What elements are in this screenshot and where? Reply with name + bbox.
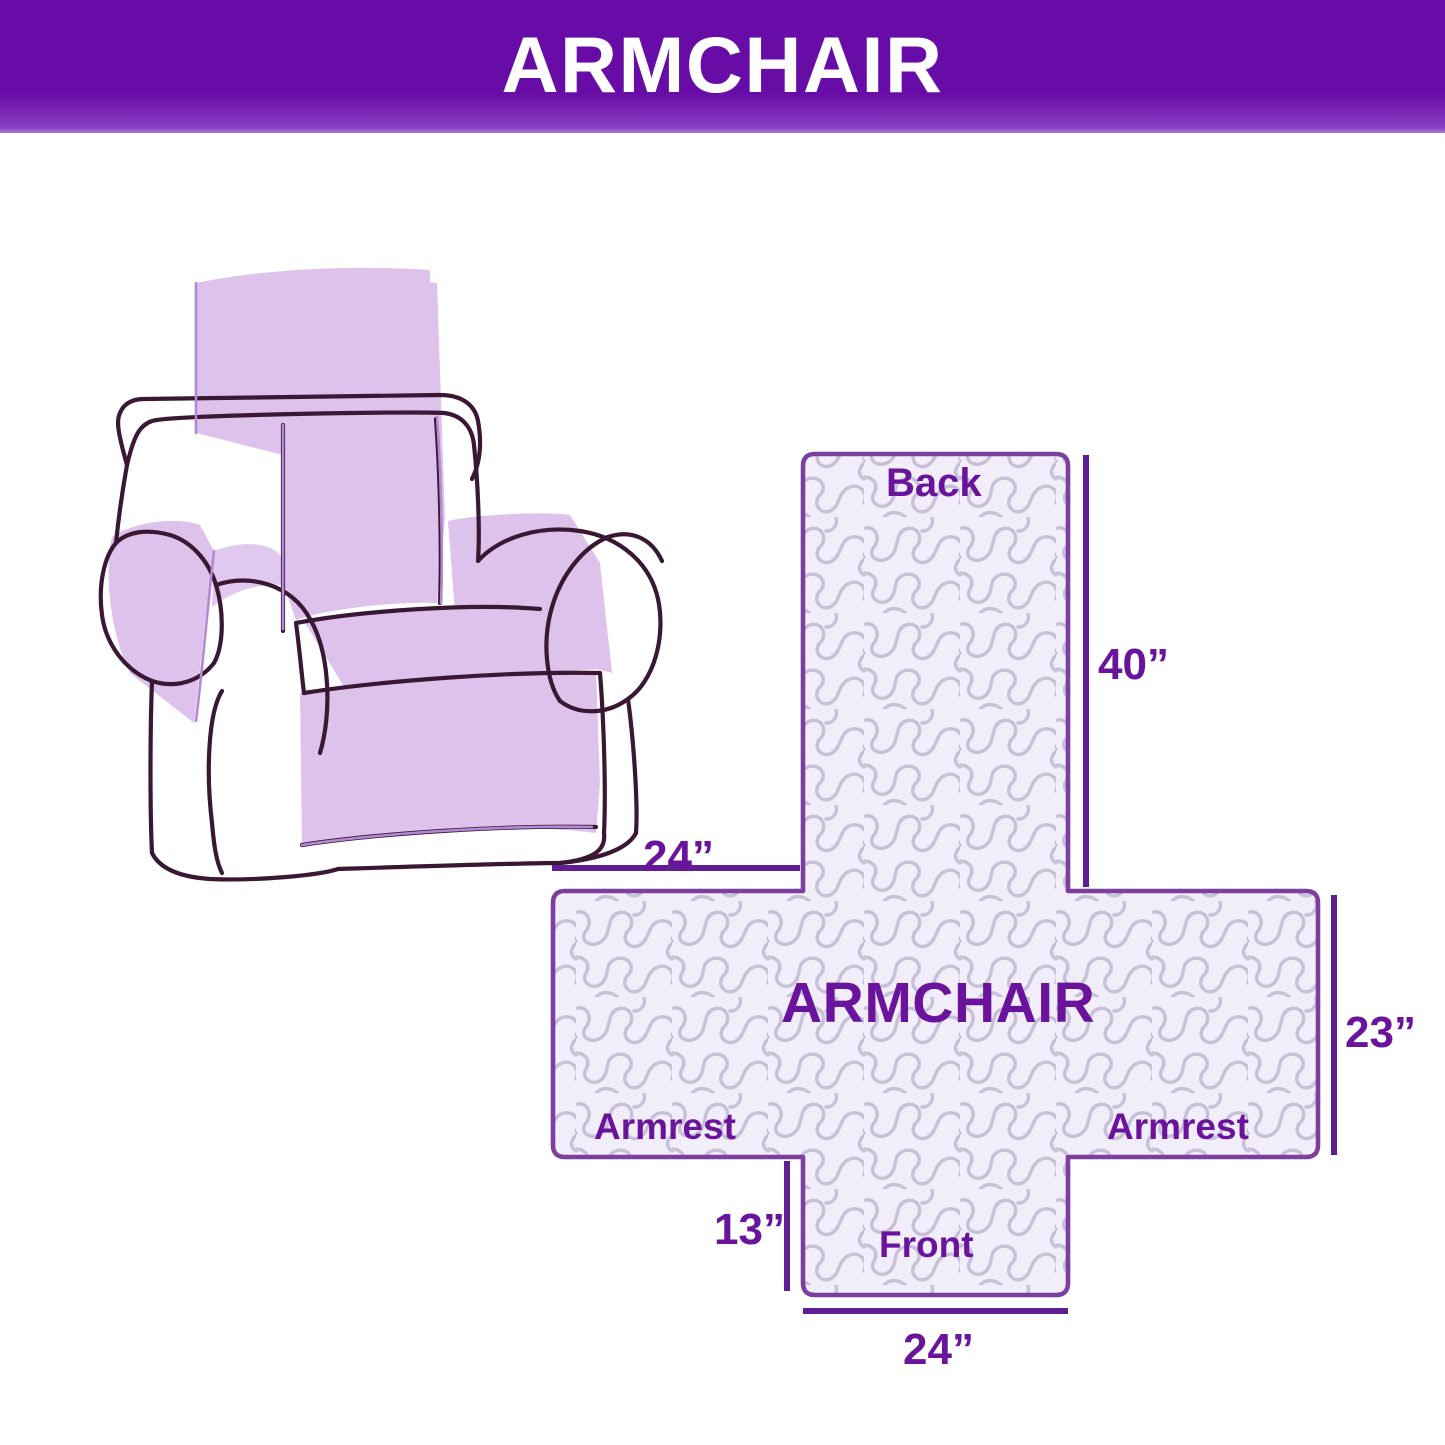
pattern-title-armchair: ARMCHAIR [781, 975, 1095, 1032]
dimension-label-back-height: 40” [1098, 643, 1169, 687]
dimension-label-front-height: 13” [714, 1208, 785, 1252]
header-banner: ARMCHAIR [0, 0, 1445, 133]
panel-label-back: Back [886, 463, 982, 503]
armchair-illustration [101, 268, 662, 880]
panel-label-armrest-left: Armrest [594, 1108, 736, 1145]
panel-label-armrest-right: Armrest [1107, 1108, 1249, 1145]
dimension-label-front-width: 24” [903, 1328, 974, 1372]
panel-label-front: Front [879, 1226, 974, 1263]
page-title: ARMCHAIR [501, 25, 943, 104]
diagram-stage: Back ARMCHAIR Armrest Armrest Front 40” … [0, 133, 1445, 1445]
dimension-label-seat-depth: 23” [1345, 1011, 1416, 1055]
dimension-label-seat-width: 24” [643, 835, 714, 879]
